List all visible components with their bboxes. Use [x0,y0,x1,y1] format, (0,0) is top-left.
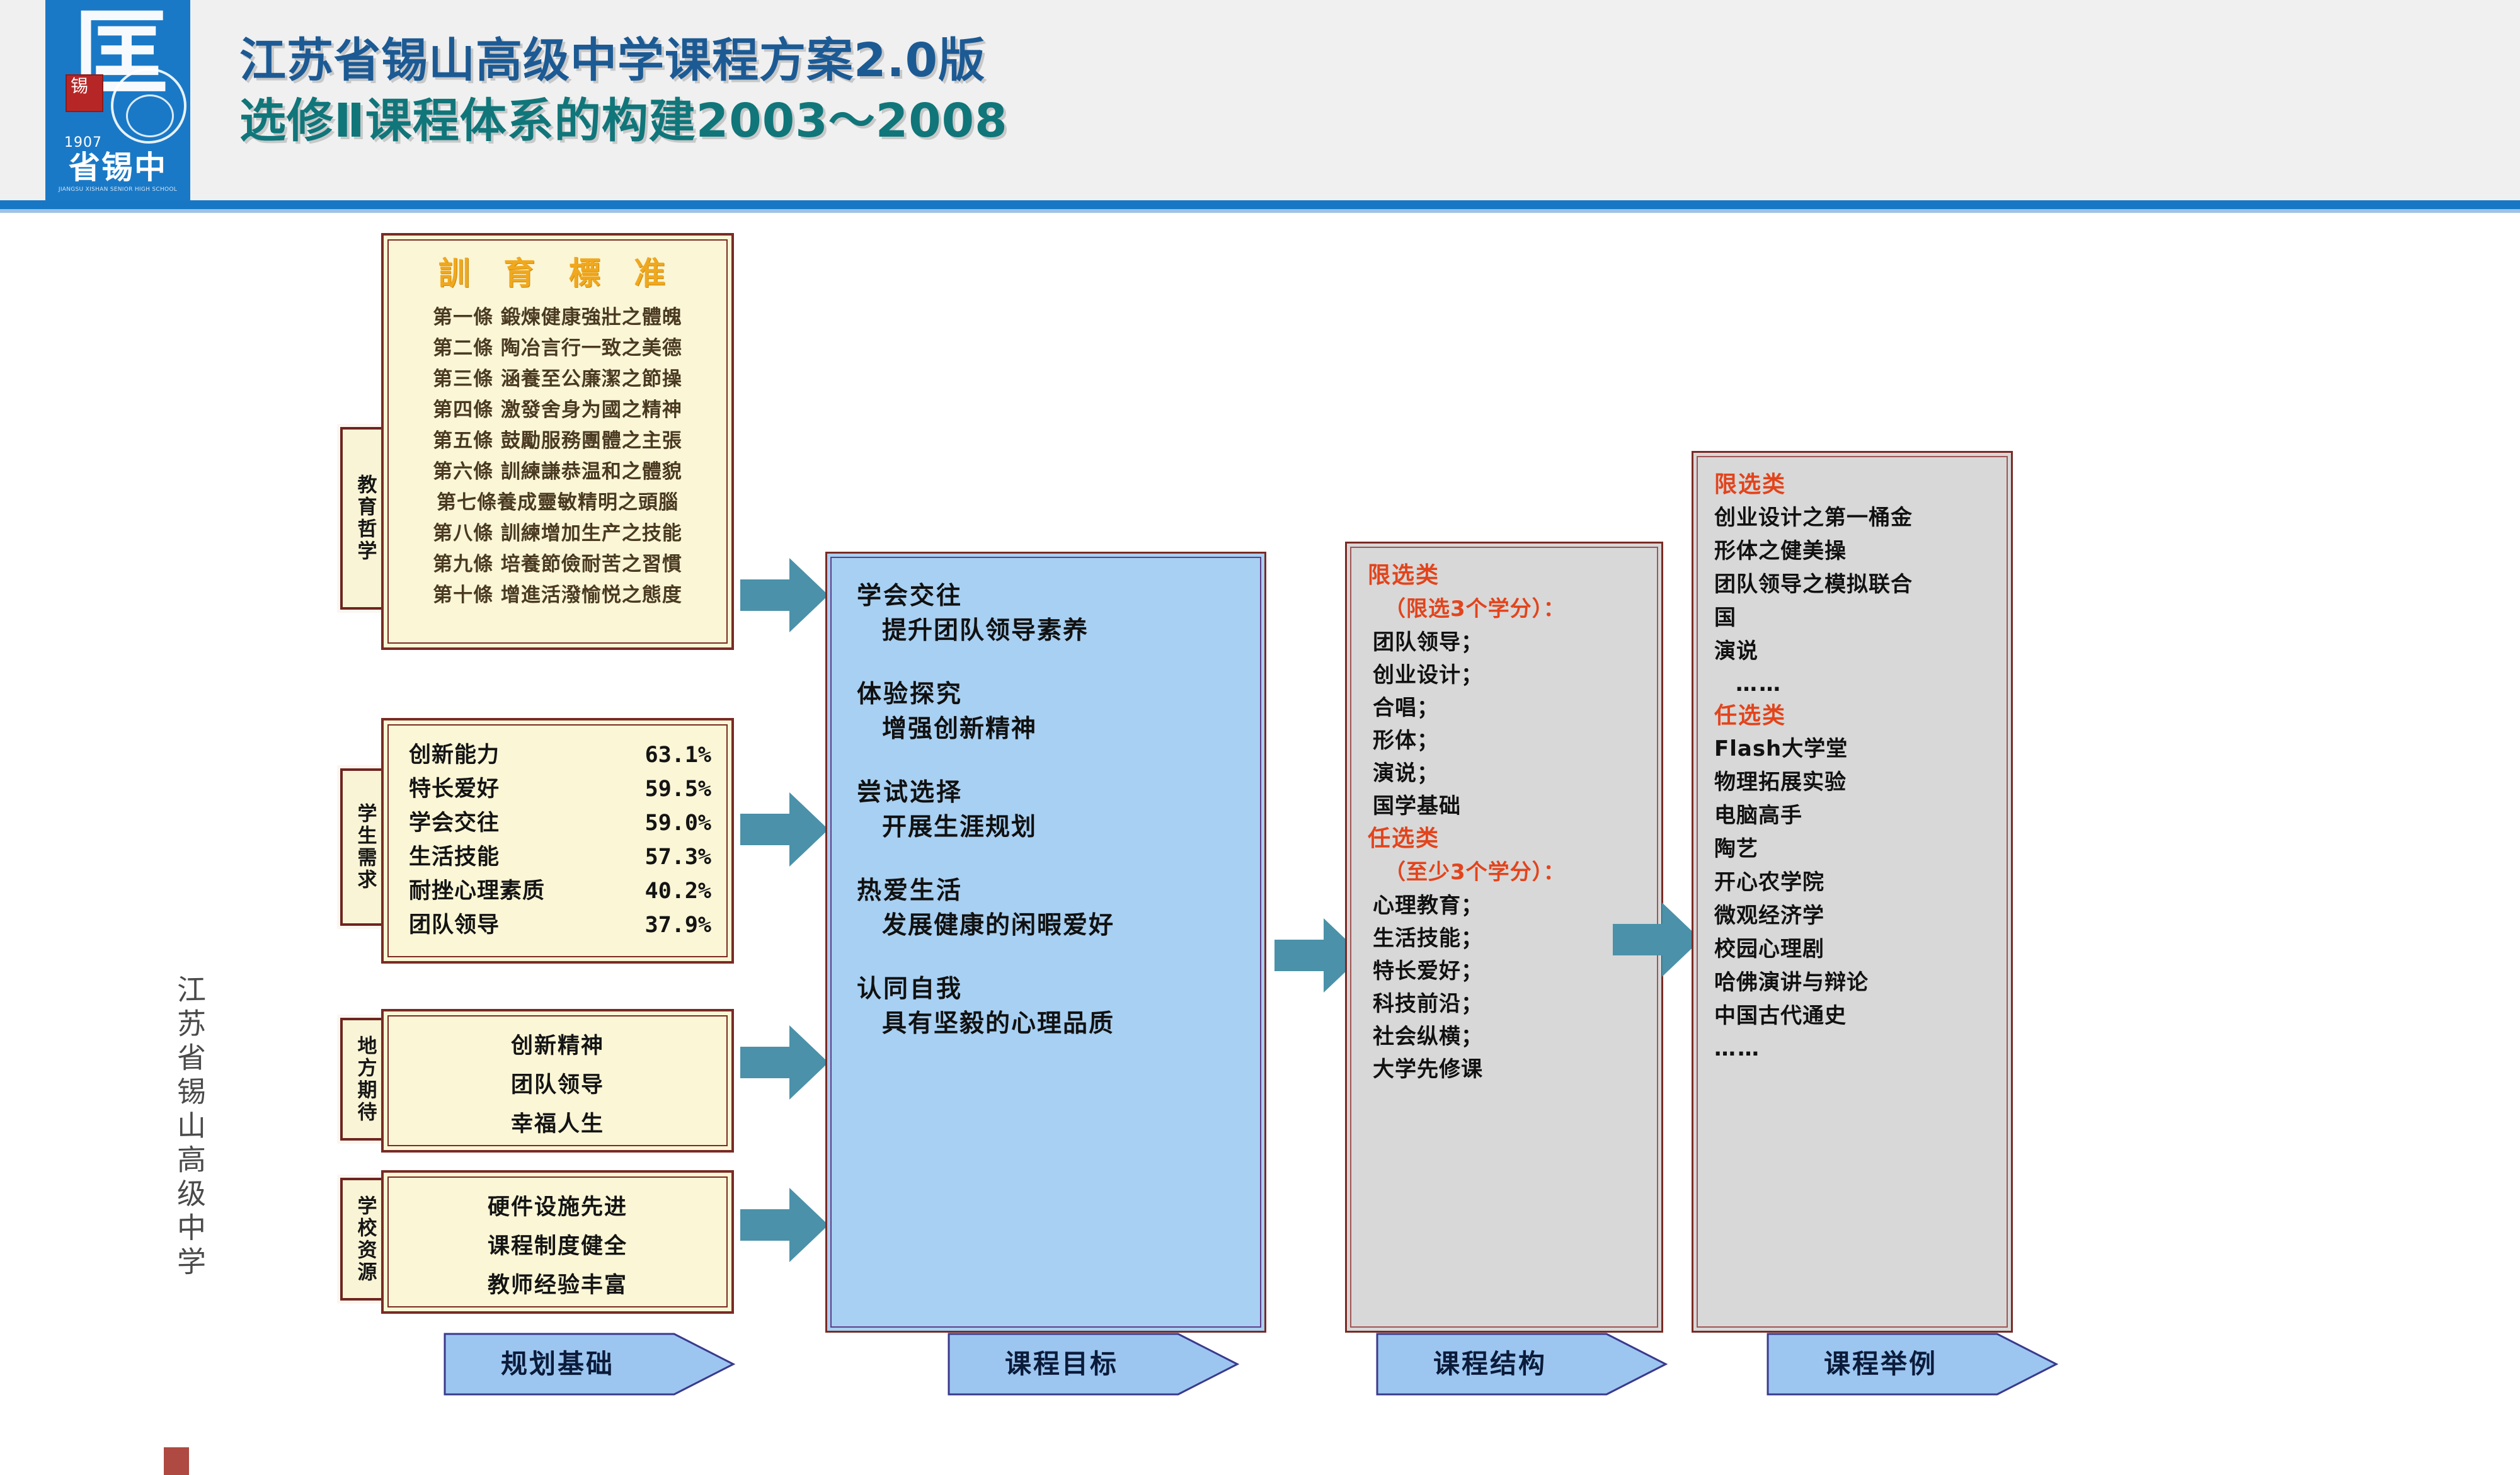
school-resources-inner: 硬件设施先进 课程制度健全 教师经验丰富 [387,1176,728,1307]
xy-line: 第六條 訓練謙恭温和之體貌 [395,457,720,487]
list-item: 合唱； [1368,692,1641,724]
need-label: 团队领导 [409,908,500,942]
education-philosophy-inner: 訓 育 標 准 第一條 鍛煉健康強壯之體魄 第二條 陶冶言行一致之美德 第三條 … [387,239,728,644]
flow-arrow-2 [740,792,828,867]
banner-course-examples[interactable]: 课程举例 [1764,1328,2060,1401]
need-value: 63.1% [645,738,711,772]
goal-item: 学会交往 提升团队领导素养 [857,579,1235,649]
logo-inner-ring-icon [126,94,174,137]
flow-arrow-1 [740,558,828,632]
course-examples-box: 限选类 创业设计之第一桶金 形体之健美操 团队领导之模拟联合 国 演说 …… 任… [1692,451,2013,1333]
banner-planning-basis[interactable]: 规划基础 [441,1328,737,1401]
goal-head: 体验探究 [857,678,1235,712]
examples-restricted-ellipsis: …… [1714,668,1990,700]
calligraphy-seal-icon [164,1447,189,1475]
logo-school-name: 省锡中 [45,151,190,184]
logo-school-name-en: JIANGSU XISHAN SENIOR HIGH SCHOOL [45,186,190,193]
list-item: 社会纵横； [1368,1020,1641,1053]
xy-line: 第八條 訓練增加生产之技能 [395,518,720,549]
list-item: 团队领导； [1368,626,1641,659]
student-needs-box: 创新能力 63.1% 特长爱好 59.5% 学会交往 59.0% 生活技能 57… [381,718,734,964]
list-item: 形体； [1368,724,1641,757]
need-label: 特长爱好 [409,772,500,806]
logo-year: 1907 [59,135,107,151]
goal-head: 尝试选择 [857,776,1235,810]
need-label: 耐挫心理素质 [409,874,545,908]
local-expectation-line: 团队领导 [395,1066,720,1105]
course-examples-inner: 限选类 创业设计之第一桶金 形体之健美操 团队领导之模拟联合 国 演说 …… 任… [1697,456,2008,1328]
list-item: 形体之健美操 [1714,535,1990,568]
goal-head: 学会交往 [857,579,1235,613]
list-item: 国 [1714,601,1990,635]
logo-seal-icon: 锡 [66,74,103,112]
side-calligraphy: 江苏省锡山高级中学 [107,974,208,1282]
need-value: 40.2% [645,874,711,908]
goal-sub: 增强创新精神 [857,712,1235,747]
vtag-label-3: 学校资源 [352,1180,380,1298]
slide-body: 江苏省锡山高级中学 教育哲学 学生需求 地方期待 学校资源 訓 育 標 准 第一… [0,213,2520,1417]
course-goals-inner: 学会交往 提升团队领导素养 体验探究 增强创新精神 尝试选择 开展生涯规划 热爱… [830,557,1261,1328]
table-row: 学会交往 59.0% [392,806,723,840]
list-item: 电脑高手 [1714,799,1990,833]
vtag-label-2: 地方期待 [352,1020,380,1138]
title-line-2: 选修Ⅱ课程体系的构建2003～2008 [239,91,1008,151]
goal-item: 热爱生活 发展健康的闲暇爱好 [857,874,1235,943]
list-item: 大学先修课 [1368,1053,1641,1086]
banner-label-0: 规划基础 [441,1328,674,1401]
list-item: 陶艺 [1714,833,1990,866]
school-logo: 匡 锡 1907 省锡中 JIANGSU XISHAN SENIOR HIGH … [45,0,190,200]
examples-optional-ellipsis: …… [1714,1033,1990,1064]
structure-restricted-sub: （限选3个学分）： [1368,592,1641,626]
need-label: 创新能力 [409,738,500,772]
goal-head: 热爱生活 [857,874,1235,908]
goal-item: 认同自我 具有坚毅的心理品质 [857,972,1235,1042]
table-row: 耐挫心理素质 40.2% [392,874,723,908]
xy-line: 第二條 陶冶言行一致之美德 [395,333,720,364]
list-item: 演说 [1714,635,1990,668]
page-title: 江苏省锡山高级中学课程方案2.0版 选修Ⅱ课程体系的构建2003～2008 [239,30,1008,151]
list-item: 校园心理剧 [1714,933,1990,966]
local-expectation-line: 创新精神 [395,1027,720,1066]
need-value: 57.3% [645,840,711,874]
list-item: 哈佛演讲与辩论 [1714,966,1990,999]
vtag-label-1: 学生需求 [352,771,380,923]
table-row: 生活技能 57.3% [392,840,723,874]
list-item: 物理拓展实验 [1714,766,1990,799]
need-value: 37.9% [645,908,711,942]
school-resources-line: 硬件设施先进 [395,1188,720,1227]
header-divider [0,200,2520,209]
flow-arrow-3 [740,1025,828,1100]
list-item: 微观经济学 [1714,899,1990,933]
course-structure-inner: 限选类 （限选3个学分）： 团队领导； 创业设计； 合唱； 形体； 演说； 国学… [1350,547,1658,1328]
xy-line: 第九條 培養節儉耐苦之習慣 [395,549,720,580]
goal-item: 体验探究 增强创新精神 [857,678,1235,747]
local-expectation-inner: 创新精神 团队领导 幸福人生 [387,1015,728,1146]
school-resources-line: 教师经验丰富 [395,1266,720,1305]
goal-item: 尝试选择 开展生涯规划 [857,776,1235,845]
slide-header: 匡 锡 1907 省锡中 JIANGSU XISHAN SENIOR HIGH … [0,0,2520,200]
examples-restricted-head: 限选类 [1714,469,1990,501]
list-item: 创业设计； [1368,659,1641,692]
need-label: 学会交往 [409,806,500,840]
flow-arrow-4 [740,1188,828,1262]
table-row: 特长爱好 59.5% [392,772,723,806]
diagram-panel: 教育哲学 学生需求 地方期待 学校资源 訓 育 標 准 第一條 鍛煉健康強壯之體… [299,225,2063,1403]
goal-sub: 具有坚毅的心理品质 [857,1006,1235,1042]
logo-seal-text: 锡 [71,79,86,94]
list-item: 特长爱好； [1368,955,1641,988]
need-label: 生活技能 [409,840,500,874]
goal-head: 认同自我 [857,972,1235,1006]
banner-course-structure[interactable]: 课程结构 [1373,1328,1669,1401]
goal-sub: 发展健康的闲暇爱好 [857,908,1235,943]
list-item: 开心农学院 [1714,866,1990,899]
need-value: 59.5% [645,772,711,806]
banner-label-1: 课程目标 [945,1328,1178,1401]
list-item: 科技前沿； [1368,988,1641,1020]
xy-line: 第五條 鼓勵服務團體之主張 [395,426,720,457]
list-item: 生活技能； [1368,922,1641,955]
goal-sub: 提升团队领导素养 [857,613,1235,649]
banner-course-goals[interactable]: 课程目标 [945,1328,1241,1401]
structure-restricted-head: 限选类 [1368,559,1641,592]
student-needs-inner: 创新能力 63.1% 特长爱好 59.5% 学会交往 59.0% 生活技能 57… [387,724,728,957]
structure-optional-head: 任选类 [1368,823,1641,855]
education-philosophy-box: 訓 育 標 准 第一條 鍛煉健康強壯之體魄 第二條 陶冶言行一致之美德 第三條 … [381,233,734,650]
xy-line: 第十條 增進活潑愉悦之態度 [395,580,720,611]
goal-sub: 开展生涯规划 [857,810,1235,845]
xy-line: 第三條 涵養至公廉潔之節操 [395,364,720,395]
list-item: Flash大学堂 [1714,732,1990,766]
list-item: 国学基础 [1368,790,1641,823]
school-resources-box: 硬件设施先进 课程制度健全 教师经验丰富 [381,1170,734,1314]
local-expectation-box: 创新精神 团队领导 幸福人生 [381,1009,734,1153]
list-item: 创业设计之第一桶金 [1714,501,1990,535]
flow-arrow-6 [1613,903,1701,977]
vtag-label-0: 教育哲学 [352,430,380,607]
xy-line: 第四條 激發舍身为國之精神 [395,395,720,426]
table-row: 团队领导 37.9% [392,908,723,942]
banner-label-3: 课程举例 [1764,1328,1997,1401]
xy-line: 第七條養成靈敏精明之頭腦 [395,487,720,518]
xy-title: 訓 育 標 准 [395,248,720,293]
table-row: 创新能力 63.1% [392,738,723,772]
examples-optional-head: 任选类 [1714,700,1990,732]
list-item: 中国古代通史 [1714,999,1990,1033]
structure-optional-sub: （至少3个学分）： [1368,855,1641,889]
need-value: 59.0% [645,806,711,840]
xy-line: 第一條 鍛煉健康強壯之體魄 [395,302,720,333]
list-item: 演说； [1368,757,1641,790]
local-expectation-line: 幸福人生 [395,1105,720,1144]
list-item: 心理教育； [1368,889,1641,922]
banner-label-2: 课程结构 [1373,1328,1606,1401]
school-resources-line: 课程制度健全 [395,1227,720,1266]
course-goals-box: 学会交往 提升团队领导素养 体验探究 增强创新精神 尝试选择 开展生涯规划 热爱… [825,552,1266,1333]
list-item: 团队领导之模拟联合 [1714,568,1990,601]
title-line-1: 江苏省锡山高级中学课程方案2.0版 [239,30,1008,91]
